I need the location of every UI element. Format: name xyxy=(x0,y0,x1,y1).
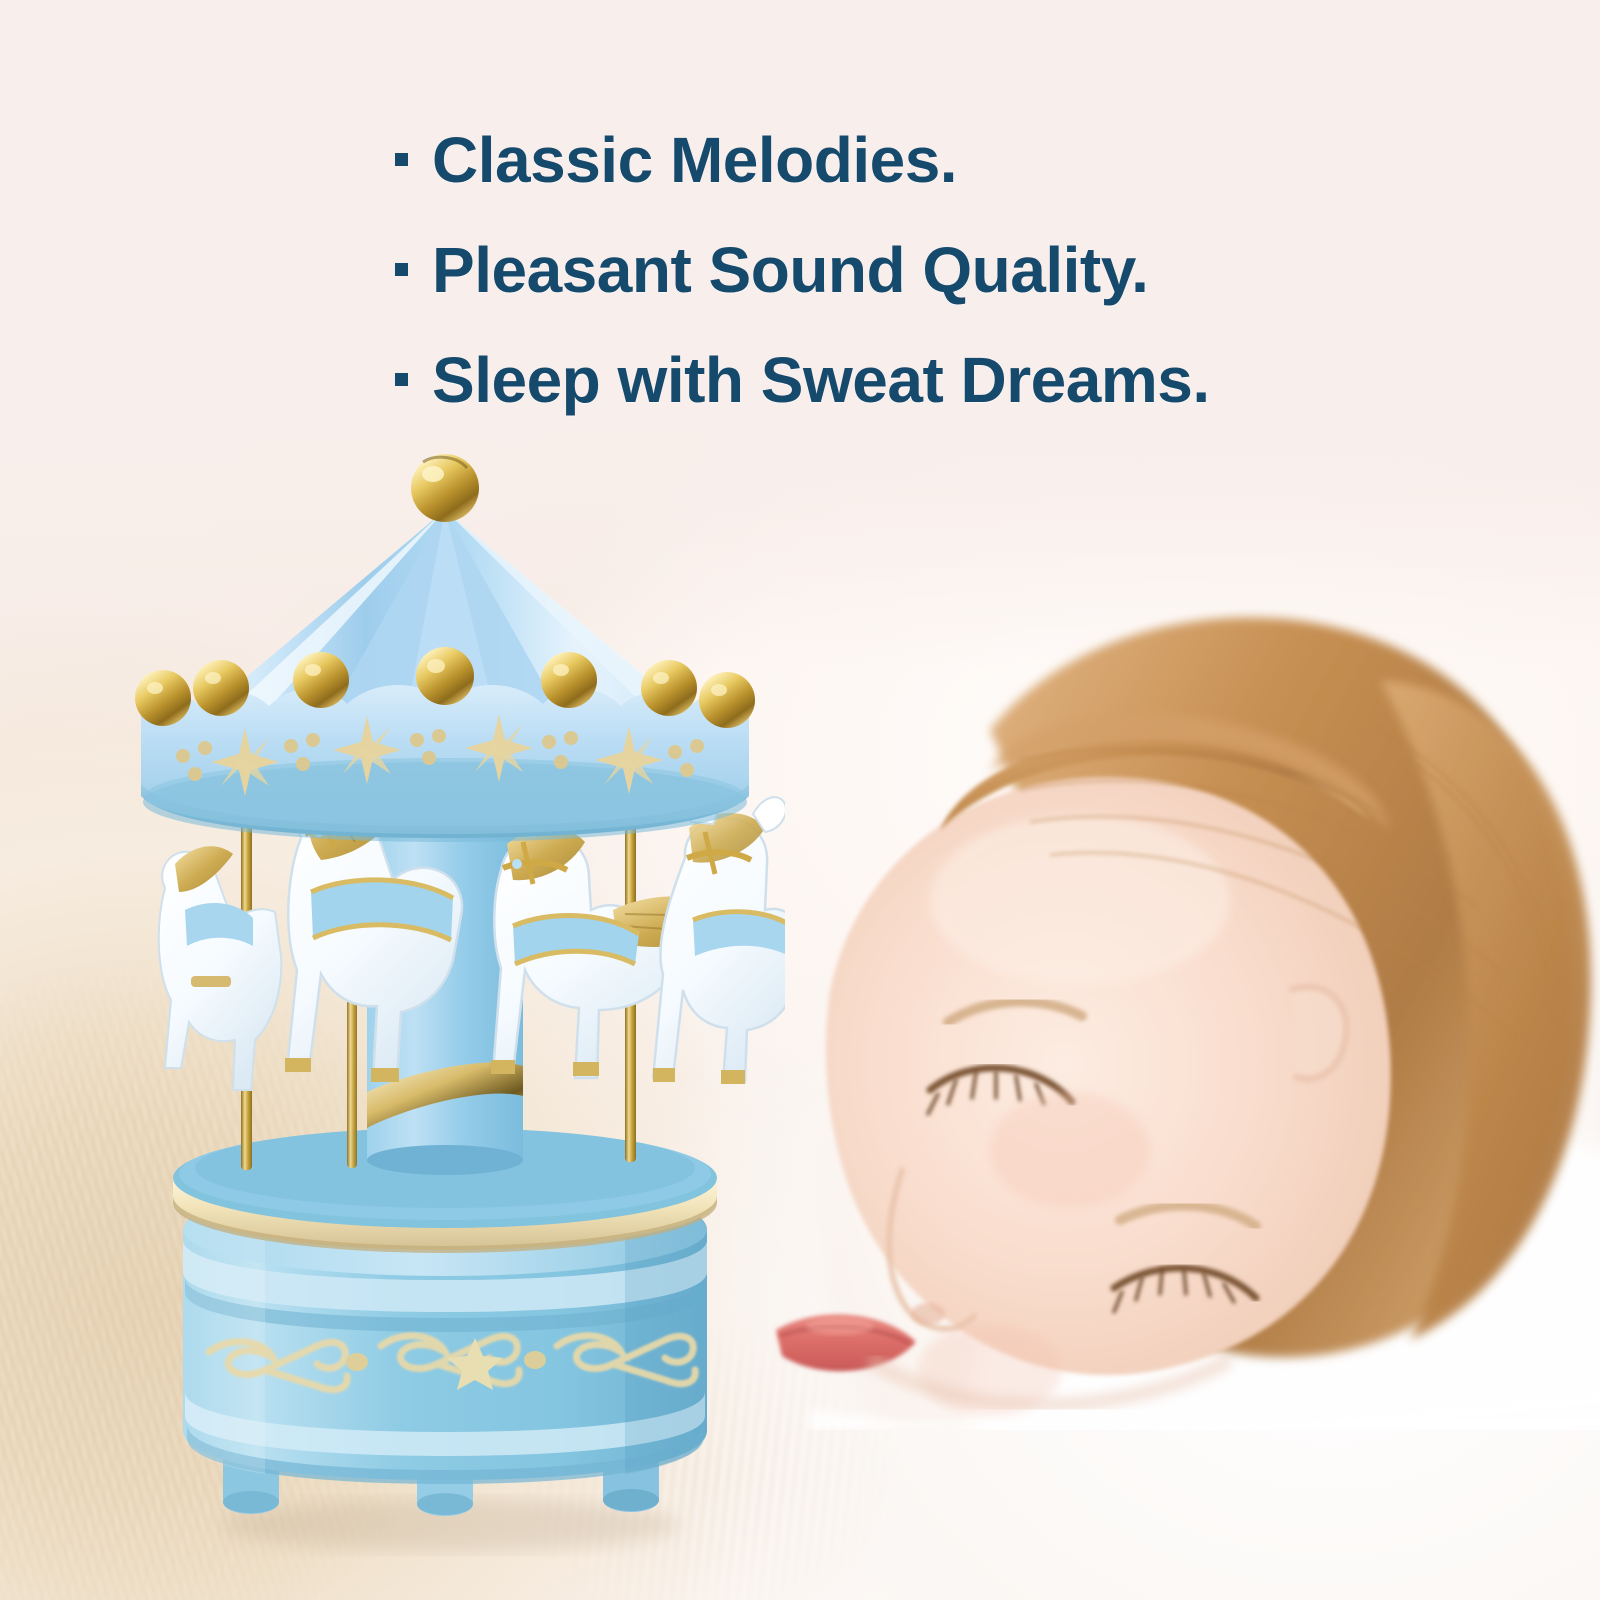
square-bullet-icon xyxy=(395,263,408,276)
feature-text-2: Pleasant Sound Quality. xyxy=(432,238,1148,302)
square-bullet-icon xyxy=(395,153,408,166)
feature-bullet-line: Sleep with Sweat Dreams. xyxy=(395,348,1515,412)
carousel-music-box xyxy=(105,440,785,1570)
square-bullet-icon xyxy=(395,373,408,386)
feature-bullet-line: Pleasant Sound Quality. xyxy=(395,238,1515,302)
feature-headline-list: Classic Melodies. Pleasant Sound Quality… xyxy=(395,128,1515,458)
finial-sphere xyxy=(411,454,479,522)
carousel-horse xyxy=(159,846,282,1090)
canopy xyxy=(135,454,755,842)
product-marketing-image: Classic Melodies. Pleasant Sound Quality… xyxy=(0,0,1600,1600)
feature-text-3: Sleep with Sweat Dreams. xyxy=(432,348,1210,412)
feature-text-1: Classic Melodies. xyxy=(432,128,957,192)
feature-bullet-line: Classic Melodies. xyxy=(395,128,1515,192)
sleeping-child xyxy=(690,430,1600,1430)
carousel-horse xyxy=(653,790,785,1084)
